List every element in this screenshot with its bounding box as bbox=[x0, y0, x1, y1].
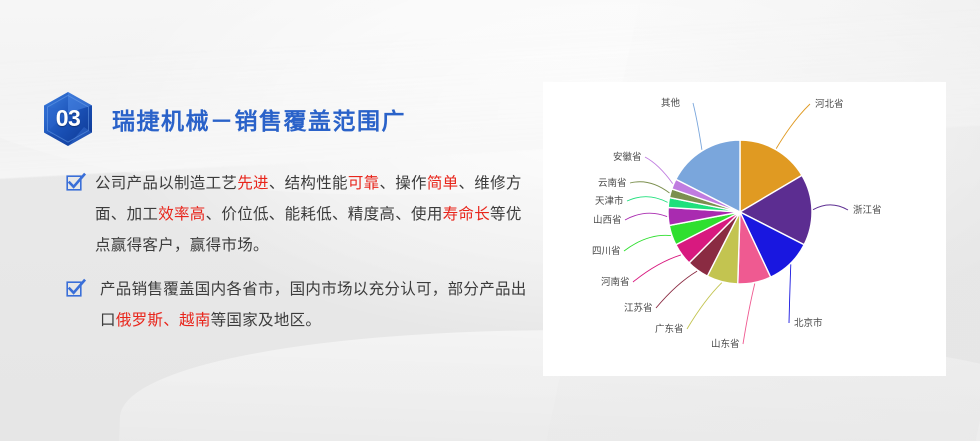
leader-line-安徽省 bbox=[645, 157, 673, 184]
pie-chart-svg: 其他安徽省云南省天津市山西省四川省河南省江苏省广东省山东省北京市浙江省河北省 bbox=[543, 82, 946, 376]
pie-slice-group[interactable] bbox=[668, 140, 812, 284]
pie-label-四川省: 四川省 bbox=[592, 245, 621, 257]
pie-label-山西省: 山西省 bbox=[593, 214, 622, 226]
highlight-keyword: 先进 bbox=[237, 174, 269, 192]
highlight-keyword: 寿命长 bbox=[443, 205, 490, 223]
pie-label-浙江省: 浙江省 bbox=[853, 204, 882, 216]
leader-line-其他 bbox=[693, 103, 702, 150]
pie-label-河南省: 河南省 bbox=[601, 276, 630, 288]
pie-label-山东省: 山东省 bbox=[711, 338, 740, 350]
leader-line-山西省 bbox=[625, 213, 667, 220]
highlight-keyword: 简单 bbox=[427, 174, 459, 192]
list-item: 产品销售覆盖国内各省市，国内市场以充分认可，部分产品出口俄罗斯、越南等国家及地区… bbox=[66, 274, 536, 336]
badge-number-label: 03 bbox=[40, 91, 96, 147]
bullet-text-2: 产品销售覆盖国内各省市，国内市场以充分认可，部分产品出口俄罗斯、越南等国家及地区… bbox=[95, 274, 536, 336]
pie-label-安徽省: 安徽省 bbox=[613, 151, 642, 163]
leader-line-天津市 bbox=[627, 197, 668, 203]
leader-line-江苏省 bbox=[656, 271, 697, 308]
leader-line-河北省 bbox=[776, 104, 810, 149]
leader-line-北京市 bbox=[789, 264, 791, 323]
pie-label-广东省: 广东省 bbox=[655, 323, 684, 335]
leader-line-河南省 bbox=[633, 255, 681, 282]
leader-line-广东省 bbox=[687, 283, 722, 329]
chart-panel: 其他安徽省云南省天津市山西省四川省河南省江苏省广东省山东省北京市浙江省河北省 bbox=[543, 82, 946, 376]
pie-label-云南省: 云南省 bbox=[598, 177, 627, 189]
highlight-keyword: 俄罗斯、越南 bbox=[116, 311, 211, 329]
leader-line-浙江省 bbox=[813, 205, 848, 210]
page-title: 瑞捷机械－销售覆盖范围广 bbox=[112, 102, 406, 136]
check-box-icon bbox=[66, 279, 85, 298]
section-heading: 03 瑞捷机械－销售覆盖范围广 bbox=[40, 90, 406, 148]
promo-page: 03 瑞捷机械－销售覆盖范围广 公司产品以制造工艺先进、结构性能可靠、操作简单、… bbox=[0, 0, 980, 441]
bullet-text-1: 公司产品以制造工艺先进、结构性能可靠、操作简单、维修方面、加工效率高、价位低、能… bbox=[95, 168, 536, 261]
list-item: 公司产品以制造工艺先进、结构性能可靠、操作简单、维修方面、加工效率高、价位低、能… bbox=[66, 168, 536, 261]
highlight-keyword: 可靠 bbox=[348, 174, 380, 192]
pie-label-北京市: 北京市 bbox=[794, 317, 823, 329]
highlight-keyword: 效率高 bbox=[158, 205, 205, 223]
leader-line-山东省 bbox=[743, 284, 755, 345]
section-number-badge: 03 bbox=[40, 91, 96, 147]
sales-coverage-pie-chart: 其他安徽省云南省天津市山西省四川省河南省江苏省广东省山东省北京市浙江省河北省 bbox=[543, 82, 946, 376]
pie-label-其他: 其他 bbox=[661, 97, 681, 109]
check-box-icon bbox=[66, 173, 85, 192]
pie-label-河北省: 河北省 bbox=[815, 98, 844, 110]
pie-label-江苏省: 江苏省 bbox=[624, 302, 653, 314]
leader-line-云南省 bbox=[630, 182, 670, 193]
pie-label-天津市: 天津市 bbox=[595, 195, 624, 207]
leader-line-四川省 bbox=[624, 235, 671, 251]
feature-bullet-list: 公司产品以制造工艺先进、结构性能可靠、操作简单、维修方面、加工效率高、价位低、能… bbox=[66, 168, 536, 336]
